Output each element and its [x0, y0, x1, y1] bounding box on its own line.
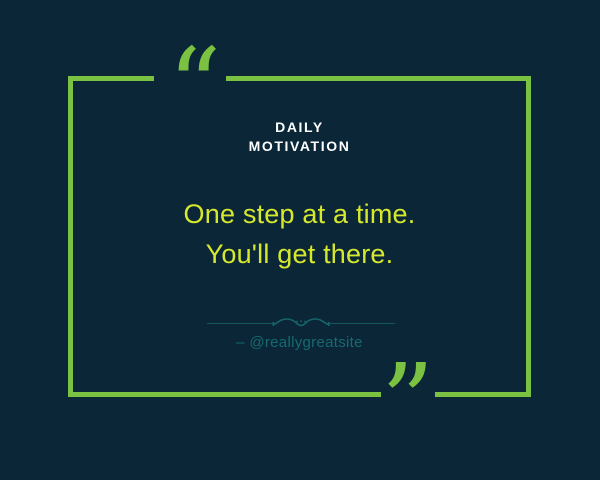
eyebrow-line-2: MOTIVATION	[249, 137, 351, 156]
quote-text: One step at a time. You'll get there.	[184, 194, 416, 275]
ornamental-divider-icon	[207, 316, 395, 330]
quote-line-2: You'll get there.	[184, 234, 416, 275]
eyebrow-heading: DAILY MOTIVATION	[249, 118, 351, 156]
quote-line-1: One step at a time.	[184, 194, 416, 235]
eyebrow-line-1: DAILY	[249, 118, 351, 137]
author-handle: – @reallygreatsite	[68, 334, 531, 351]
quote-poster: “ ” DAILY MOTIVATION One step at a time.…	[0, 0, 600, 480]
poster-content: DAILY MOTIVATION One step at a time. You…	[68, 76, 531, 397]
